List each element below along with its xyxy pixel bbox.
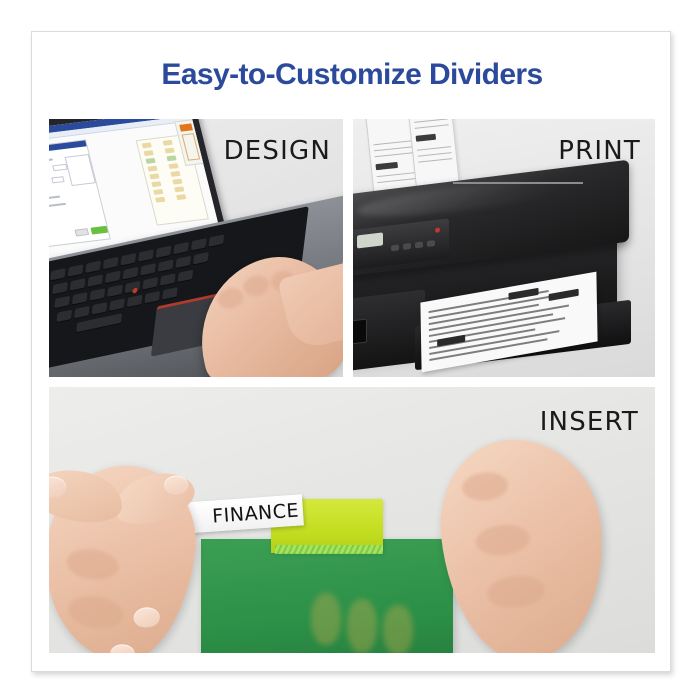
keyboard-key[interactable]: [120, 253, 136, 266]
printer-lcd-display: [357, 232, 383, 248]
printer-button[interactable]: [415, 241, 423, 248]
template-cell[interactable]: [174, 186, 184, 192]
cartridge-slot: [353, 318, 367, 344]
template-cell[interactable]: [149, 173, 159, 179]
dialog-input[interactable]: [51, 176, 64, 183]
page-title: Easy-to-Customize Dividers: [32, 58, 672, 92]
panel-insert: FINANCE INSERT: [49, 387, 655, 653]
knuckle: [241, 273, 271, 299]
template-cell[interactable]: [155, 197, 165, 203]
keyboard-key[interactable]: [56, 310, 72, 323]
dialog-confirm-button[interactable]: [90, 226, 108, 235]
keyboard-key[interactable]: [158, 259, 174, 272]
tab-stitching: [275, 545, 383, 554]
product-card: Easy-to-Customize Dividers: [31, 31, 671, 672]
panel-label-design: DESIGN: [224, 136, 331, 166]
dialog-preview: [65, 154, 96, 186]
panel-print: PRINT: [353, 119, 655, 377]
keyboard-key[interactable]: [123, 267, 139, 280]
template-cell[interactable]: [172, 179, 182, 185]
keyboard-key[interactable]: [177, 270, 193, 283]
panel-design: DESIGN: [49, 119, 343, 377]
keyboard-key[interactable]: [142, 277, 158, 290]
lid-seam: [453, 182, 583, 184]
knuckle: [461, 470, 510, 503]
keyboard-key[interactable]: [107, 284, 123, 297]
knuckle: [65, 546, 121, 583]
keyboard-key[interactable]: [52, 282, 68, 295]
keyboard-key[interactable]: [89, 288, 105, 301]
printer-button[interactable]: [403, 243, 411, 250]
knuckle: [216, 285, 246, 311]
keyboard-key[interactable]: [105, 271, 121, 284]
finger-behind-divider: [311, 593, 341, 645]
keyboard-key[interactable]: [140, 263, 156, 276]
keyboard-key[interactable]: [127, 295, 143, 308]
template-cell[interactable]: [168, 163, 178, 169]
keyboard-key[interactable]: [68, 264, 84, 277]
keyboard-key[interactable]: [92, 302, 108, 315]
preview-accent-bar: [179, 123, 193, 131]
template-cell[interactable]: [176, 194, 186, 200]
keyboard-key[interactable]: [144, 291, 160, 304]
trackpoint-nub[interactable]: [132, 287, 138, 293]
dialog-input[interactable]: [52, 164, 67, 172]
template-cell[interactable]: [147, 166, 157, 172]
printed-label-block: [437, 335, 465, 347]
template-cell[interactable]: [145, 158, 155, 164]
dialog-text-line: [49, 196, 60, 201]
printed-label-block: [549, 289, 579, 301]
template-cell[interactable]: [166, 155, 176, 161]
keyboard-key[interactable]: [50, 268, 66, 281]
keyboard-key[interactable]: [138, 249, 154, 262]
knuckle: [486, 573, 547, 611]
keyboard-key[interactable]: [193, 252, 209, 265]
keyboard-key[interactable]: [109, 298, 125, 311]
knuckle: [66, 593, 126, 632]
keyboard-key[interactable]: [70, 278, 86, 291]
template-cell[interactable]: [170, 171, 180, 177]
panel-label-insert: INSERT: [540, 407, 639, 437]
template-cell[interactable]: [142, 142, 152, 148]
template-cell[interactable]: [144, 150, 154, 156]
keyboard-key[interactable]: [54, 296, 70, 309]
fingernail: [133, 607, 160, 629]
dialog-cancel-button[interactable]: [74, 228, 89, 236]
fingernail: [110, 644, 135, 653]
keyboard-key[interactable]: [175, 256, 191, 269]
keyboard-key[interactable]: [191, 238, 207, 251]
keyboard-key[interactable]: [156, 246, 172, 259]
power-indicator-light: [435, 227, 440, 233]
template-cell[interactable]: [163, 140, 173, 146]
dialog-header: [49, 140, 87, 155]
settings-dialog: [49, 139, 111, 248]
keyboard-key[interactable]: [85, 261, 101, 274]
keyboard-key[interactable]: [160, 273, 176, 286]
finger-behind-divider: [383, 605, 413, 653]
keyboard-key[interactable]: [74, 306, 90, 319]
paper-label-block: [416, 134, 437, 142]
printer-button[interactable]: [427, 240, 435, 247]
dialog-text-line: [49, 203, 66, 209]
insert-label-text: FINANCE: [212, 499, 300, 527]
keyboard-key[interactable]: [173, 242, 189, 255]
finger-behind-divider: [347, 599, 377, 653]
template-cell[interactable]: [165, 148, 175, 154]
preview-outline: [182, 133, 201, 161]
thumbnail: [164, 475, 189, 495]
keyboard-key[interactable]: [208, 234, 224, 247]
keyboard-key[interactable]: [87, 274, 103, 287]
printer-button[interactable]: [391, 244, 399, 251]
template-cell[interactable]: [151, 181, 161, 187]
keyboard-key[interactable]: [162, 287, 178, 300]
keyboard-key[interactable]: [103, 257, 119, 270]
paper-label-block: [375, 162, 398, 170]
thumbnail: [49, 477, 66, 498]
template-cell[interactable]: [153, 189, 163, 195]
dialog-text-line: [49, 158, 53, 164]
panel-label-print: PRINT: [558, 136, 641, 166]
knuckle: [474, 522, 531, 557]
keyboard-key[interactable]: [72, 292, 88, 305]
